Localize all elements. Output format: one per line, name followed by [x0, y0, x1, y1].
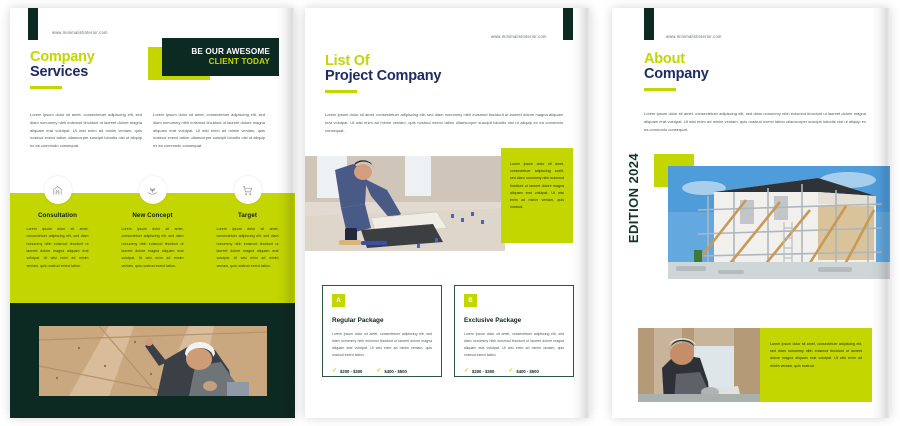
package-price-item: ✓ $400 - $500 [376, 368, 406, 374]
package-price-list: ✓ $200 - $300 ✓ $400 - $500 [332, 368, 432, 374]
package-price-item: ✓ $400 - $500 [508, 368, 538, 374]
intro-paragraph-right: Lorem ipsum dolor sit amet, consectetuer… [644, 110, 866, 133]
package-badge: A [332, 294, 345, 307]
check-icon: ✓ [332, 368, 337, 374]
page-company-services[interactable]: www.minimalistinterior.com Company Servi… [10, 8, 295, 418]
feature-copy: Lorem ipsum dolor sit amet, consectetuer… [217, 226, 279, 270]
package-title: Regular Package [332, 317, 432, 324]
cta-banner[interactable]: BE OUR AWESOME CLIENT TODAY [162, 38, 279, 76]
check-icon: ✓ [508, 368, 513, 374]
page-title-bottom-left: Services [30, 65, 95, 80]
intro-paragraph-col2: Lorem ipsum dolor sit amet, consectetuer… [153, 111, 265, 150]
package-price: $200 - $300 [340, 369, 362, 374]
feature-copy: Lorem ipsum dolor sit amet, consectetuer… [27, 226, 89, 270]
packages-row: A Regular Package Lorem ipsum dolor sit … [322, 285, 574, 377]
features-row: Consultation Lorem ipsum dolor sit amet,… [10, 176, 295, 270]
package-price: $200 - $300 [472, 369, 494, 374]
header-tab-mark [28, 8, 38, 40]
feature-icon-circle [234, 176, 262, 204]
package-card-exclusive[interactable]: B Exclusive Package Lorem ipsum dolor si… [454, 285, 574, 377]
building-icon [52, 185, 63, 196]
page-title-bottom-right: Company [644, 67, 709, 82]
package-copy: Lorem ipsum dolor sit amet, consectetuer… [332, 331, 432, 359]
website-url-left: www.minimalistinterior.com [52, 30, 108, 35]
cta-line-2: CLIENT TODAY [209, 57, 270, 67]
photo-builder-working [638, 328, 760, 402]
cta-line-1: BE OUR AWESOME [191, 47, 270, 57]
feature-copy: Lorem ipsum dolor sit amet, consectetuer… [122, 226, 184, 270]
website-url-right: www.minimalistinterior.com [666, 34, 722, 39]
intro-paragraph-mid: Lorem ipsum dolor sit amet, consectetuer… [325, 111, 563, 134]
package-copy: Lorem ipsum dolor sit amet, consectetuer… [464, 331, 564, 359]
package-title: Exclusive Package [464, 317, 564, 324]
page-title-top-mid: List Of [325, 54, 441, 69]
page-title-top-left: Company [30, 50, 95, 65]
page-about-company[interactable]: www.minimalistinterior.com About Company… [612, 8, 890, 418]
feature-title: Target [238, 212, 257, 219]
highlight-green-box-mid: Lorem ipsum dolor sit amet, consectetuer… [501, 148, 573, 243]
page-title-right: About Company [644, 52, 709, 91]
header-tab-mark [644, 8, 654, 40]
photo-house-scaffolding [668, 166, 890, 279]
feature-icon-circle [139, 176, 167, 204]
intro-paragraph-col1: Lorem ipsum dolor sit amet, consectetuer… [30, 111, 142, 150]
check-icon: ✓ [464, 368, 469, 374]
package-price: $400 - $500 [384, 369, 406, 374]
package-price-item: ✓ $200 - $300 [332, 368, 362, 374]
page-project-list[interactable]: www.minimalistinterior.com List Of Proje… [305, 8, 590, 418]
title-rule-mid [325, 90, 357, 92]
feature-target[interactable]: Target Lorem ipsum dolor sit amet, conse… [200, 176, 295, 270]
package-price-item: ✓ $200 - $300 [464, 368, 494, 374]
header-tab-mark [563, 8, 573, 40]
feature-new-concept[interactable]: New Concept Lorem ipsum dolor sit amet, … [105, 176, 200, 270]
title-rule-right [644, 88, 676, 90]
photo-roof-truss-worker [39, 326, 267, 396]
page-title-bottom-mid: Project Company [325, 69, 441, 84]
feature-icon-circle [44, 176, 72, 204]
package-price: $400 - $500 [516, 369, 538, 374]
page-title-top-right: About [644, 52, 709, 67]
hand-plant-icon [147, 185, 158, 196]
package-badge: B [464, 294, 477, 307]
package-price-list: ✓ $200 - $300 ✓ $400 - $500 [464, 368, 564, 374]
photo-floor-tiler [305, 156, 505, 251]
website-url-mid: www.minimalistinterior.com [491, 34, 547, 39]
feature-consultation[interactable]: Consultation Lorem ipsum dolor sit amet,… [10, 176, 105, 270]
green-box-copy-mid: Lorem ipsum dolor sit amet, consectetuer… [510, 161, 564, 211]
feature-title: New Concept [132, 212, 172, 219]
page-title-left: Company Services [30, 50, 95, 89]
title-rule-left [30, 86, 62, 88]
page-title-mid: List Of Project Company [325, 54, 441, 93]
brochure-spread: www.minimalistinterior.com Company Servi… [0, 0, 900, 426]
check-icon: ✓ [376, 368, 381, 374]
green-box-copy-right: Lorem ipsum dolor sit amet, consectetuer… [770, 341, 862, 370]
feature-title: Consultation [38, 212, 77, 219]
shopping-cart-icon [242, 185, 253, 196]
highlight-green-box-right: Lorem ipsum dolor sit amet, consectetuer… [760, 328, 872, 402]
edition-label: EDITION 2024 [626, 153, 641, 243]
package-card-regular[interactable]: A Regular Package Lorem ipsum dolor sit … [322, 285, 442, 377]
